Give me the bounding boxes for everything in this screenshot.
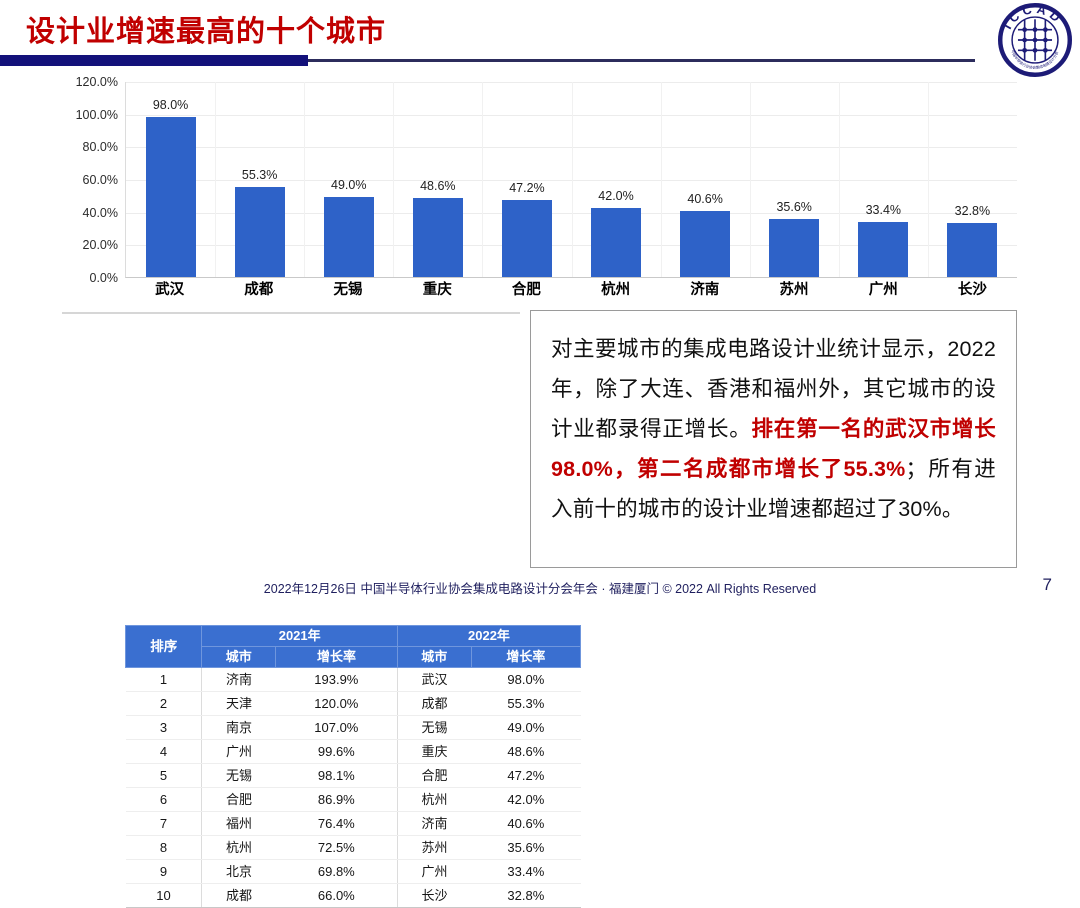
cell-rate-2021: 107.0% bbox=[276, 716, 398, 740]
cell-rank: 4 bbox=[126, 740, 202, 764]
cell-city-2022: 武汉 bbox=[397, 668, 471, 692]
cell-rank: 1 bbox=[126, 668, 202, 692]
col-group-2021-header: 2021年 bbox=[202, 626, 398, 647]
cell-city-2022: 济南 bbox=[397, 812, 471, 836]
bar-value-label: 42.0% bbox=[598, 189, 633, 203]
table-row: 5无锡98.1%合肥47.2% bbox=[126, 764, 581, 788]
x-axis-category-label: 广州 bbox=[839, 278, 928, 299]
table-row: 1济南193.9%武汉98.0% bbox=[126, 668, 581, 692]
x-axis-category-label: 杭州 bbox=[571, 278, 660, 299]
cell-rate-2022: 49.0% bbox=[471, 716, 580, 740]
cell-rate-2021: 98.1% bbox=[276, 764, 398, 788]
bar-value-label: 40.6% bbox=[687, 192, 722, 206]
col-group-2022-header: 2022年 bbox=[397, 626, 580, 647]
cell-rank: 9 bbox=[126, 860, 202, 884]
page-number: 7 bbox=[1043, 575, 1052, 595]
table-row: 9北京69.8%广州33.4% bbox=[126, 860, 581, 884]
x-axis-category-label: 济南 bbox=[660, 278, 749, 299]
commentary-paragraph: 对主要城市的集成电路设计业统计显示，2022年，除了大连、香港和福州外，其它城市… bbox=[551, 329, 996, 529]
cell-city-2021: 天津 bbox=[202, 692, 276, 716]
commentary-textbox: 对主要城市的集成电路设计业统计显示，2022年，除了大连、香港和福州外，其它城市… bbox=[530, 310, 1017, 568]
cell-rate-2021: 86.9% bbox=[276, 788, 398, 812]
table-row: 4广州99.6%重庆48.6% bbox=[126, 740, 581, 764]
cell-rank: 7 bbox=[126, 812, 202, 836]
bar-cell: 47.2% bbox=[482, 82, 571, 277]
y-axis-tick: 120.0% bbox=[76, 75, 118, 89]
cell-rank: 10 bbox=[126, 884, 202, 908]
cell-city-2021: 杭州 bbox=[202, 836, 276, 860]
x-axis-category-label: 无锡 bbox=[303, 278, 392, 299]
cell-city-2022: 苏州 bbox=[397, 836, 471, 860]
table-row: 10成都66.0%长沙32.8% bbox=[126, 884, 581, 908]
cell-city-2022: 无锡 bbox=[397, 716, 471, 740]
table-head: 排序 2021年 2022年 城市 增长率 城市 增长率 bbox=[126, 626, 581, 668]
cell-rate-2022: 33.4% bbox=[471, 860, 580, 884]
cell-rate-2022: 42.0% bbox=[471, 788, 580, 812]
cell-rank: 3 bbox=[126, 716, 202, 740]
page-title: 设计业增速最高的十个城市 bbox=[26, 8, 386, 50]
x-axis-category-label: 成都 bbox=[214, 278, 303, 299]
x-axis-category-label: 武汉 bbox=[125, 278, 214, 299]
col-rate-2021-header: 增长率 bbox=[276, 647, 398, 668]
ranking-table: 排序 2021年 2022年 城市 增长率 城市 增长率 1济南193.9%武汉… bbox=[125, 625, 581, 908]
chart-y-axis: 120.0%100.0%80.0%60.0%40.0%20.0%0.0% bbox=[62, 72, 122, 278]
ranking-table-wrapper: 排序 2021年 2022年 城市 增长率 城市 增长率 1济南193.9%武汉… bbox=[62, 312, 520, 314]
bar-cell: 35.6% bbox=[750, 82, 839, 277]
bar-cell: 55.3% bbox=[215, 82, 304, 277]
chart-bar: 42.0% bbox=[591, 208, 641, 277]
cell-rate-2021: 69.8% bbox=[276, 860, 398, 884]
growth-rate-bar-chart: 120.0%100.0%80.0%60.0%40.0%20.0%0.0% 98.… bbox=[62, 72, 1017, 300]
title-accent-bar bbox=[0, 55, 308, 66]
bar-value-label: 33.4% bbox=[866, 203, 901, 217]
cell-rank: 6 bbox=[126, 788, 202, 812]
cell-city-2021: 南京 bbox=[202, 716, 276, 740]
cell-rate-2021: 72.5% bbox=[276, 836, 398, 860]
bar-cell: 49.0% bbox=[304, 82, 393, 277]
col-city-2022-header: 城市 bbox=[397, 647, 471, 668]
cell-city-2022: 广州 bbox=[397, 860, 471, 884]
cell-rate-2022: 55.3% bbox=[471, 692, 580, 716]
cell-city-2021: 济南 bbox=[202, 668, 276, 692]
chart-bar: 35.6% bbox=[769, 219, 819, 277]
bar-value-label: 98.0% bbox=[153, 98, 188, 112]
cell-rate-2021: 66.0% bbox=[276, 884, 398, 908]
table-row: 8杭州72.5%苏州35.6% bbox=[126, 836, 581, 860]
cell-city-2022: 杭州 bbox=[397, 788, 471, 812]
cell-rate-2022: 47.2% bbox=[471, 764, 580, 788]
title-accent-line bbox=[308, 59, 975, 62]
chart-bar: 33.4% bbox=[858, 222, 908, 277]
table-group-header-row: 排序 2021年 2022年 bbox=[126, 626, 581, 647]
y-axis-tick: 40.0% bbox=[83, 206, 118, 220]
bar-cell: 33.4% bbox=[839, 82, 928, 277]
chart-bar: 48.6% bbox=[413, 198, 463, 277]
col-rate-2022-header: 增长率 bbox=[471, 647, 580, 668]
cell-city-2021: 合肥 bbox=[202, 788, 276, 812]
chart-plot-area: 98.0%55.3%49.0%48.6%47.2%42.0%40.6%35.6%… bbox=[125, 82, 1017, 278]
cell-city-2022: 重庆 bbox=[397, 740, 471, 764]
chart-bar: 98.0% bbox=[146, 117, 196, 277]
col-city-2021-header: 城市 bbox=[202, 647, 276, 668]
y-axis-tick: 60.0% bbox=[83, 173, 118, 187]
cell-city-2021: 无锡 bbox=[202, 764, 276, 788]
x-axis-category-label: 苏州 bbox=[749, 278, 838, 299]
table-row: 7福州76.4%济南40.6% bbox=[126, 812, 581, 836]
cell-rate-2022: 48.6% bbox=[471, 740, 580, 764]
cell-rate-2022: 98.0% bbox=[471, 668, 580, 692]
chart-bar: 47.2% bbox=[502, 200, 552, 277]
y-axis-tick: 0.0% bbox=[90, 271, 119, 285]
cell-rate-2021: 99.6% bbox=[276, 740, 398, 764]
iccad-logo-icon: ICCAD 中国半导体行业协会集成电路设计分会 bbox=[998, 3, 1072, 77]
cell-rate-2021: 76.4% bbox=[276, 812, 398, 836]
table-row: 3南京107.0%无锡49.0% bbox=[126, 716, 581, 740]
y-axis-tick: 100.0% bbox=[76, 108, 118, 122]
chart-bar: 40.6% bbox=[680, 211, 730, 277]
cell-city-2022: 成都 bbox=[397, 692, 471, 716]
bar-cell: 98.0% bbox=[126, 82, 215, 277]
bar-value-label: 48.6% bbox=[420, 179, 455, 193]
chart-bar: 55.3% bbox=[235, 187, 285, 277]
cell-rate-2021: 120.0% bbox=[276, 692, 398, 716]
bar-cell: 32.8% bbox=[928, 82, 1017, 277]
col-rank-header: 排序 bbox=[126, 626, 202, 668]
chart-bar: 49.0% bbox=[324, 197, 374, 277]
cell-rate-2022: 35.6% bbox=[471, 836, 580, 860]
cell-rate-2021: 193.9% bbox=[276, 668, 398, 692]
bar-value-label: 49.0% bbox=[331, 178, 366, 192]
bar-value-label: 35.6% bbox=[776, 200, 811, 214]
bar-cell: 42.0% bbox=[571, 82, 660, 277]
bar-cell: 48.6% bbox=[393, 82, 482, 277]
bar-value-label: 47.2% bbox=[509, 181, 544, 195]
chart-bar: 32.8% bbox=[947, 223, 997, 277]
cell-city-2021: 福州 bbox=[202, 812, 276, 836]
cell-rank: 8 bbox=[126, 836, 202, 860]
table-row: 2天津120.0%成都55.3% bbox=[126, 692, 581, 716]
cell-rate-2022: 40.6% bbox=[471, 812, 580, 836]
chart-bars: 98.0%55.3%49.0%48.6%47.2%42.0%40.6%35.6%… bbox=[126, 82, 1017, 277]
cell-rank: 2 bbox=[126, 692, 202, 716]
bar-value-label: 55.3% bbox=[242, 168, 277, 182]
cell-city-2022: 长沙 bbox=[397, 884, 471, 908]
y-axis-tick: 80.0% bbox=[83, 140, 118, 154]
cell-city-2021: 北京 bbox=[202, 860, 276, 884]
cell-rate-2022: 32.8% bbox=[471, 884, 580, 908]
cell-city-2021: 广州 bbox=[202, 740, 276, 764]
x-axis-category-label: 长沙 bbox=[928, 278, 1017, 299]
cell-rank: 5 bbox=[126, 764, 202, 788]
bar-value-label: 32.8% bbox=[955, 204, 990, 218]
cell-city-2022: 合肥 bbox=[397, 764, 471, 788]
table-body: 1济南193.9%武汉98.0%2天津120.0%成都55.3%3南京107.0… bbox=[126, 668, 581, 908]
chart-x-axis-labels: 武汉成都无锡重庆合肥杭州济南苏州广州长沙 bbox=[125, 278, 1017, 299]
x-axis-category-label: 合肥 bbox=[482, 278, 571, 299]
y-axis-tick: 20.0% bbox=[83, 238, 118, 252]
x-axis-category-label: 重庆 bbox=[393, 278, 482, 299]
footer-text: 2022年12月26日 中国半导体行业协会集成电路设计分会年会 · 福建厦门 ©… bbox=[0, 578, 1080, 597]
bar-cell: 40.6% bbox=[661, 82, 750, 277]
table-row: 6合肥86.9%杭州42.0% bbox=[126, 788, 581, 812]
cell-city-2021: 成都 bbox=[202, 884, 276, 908]
